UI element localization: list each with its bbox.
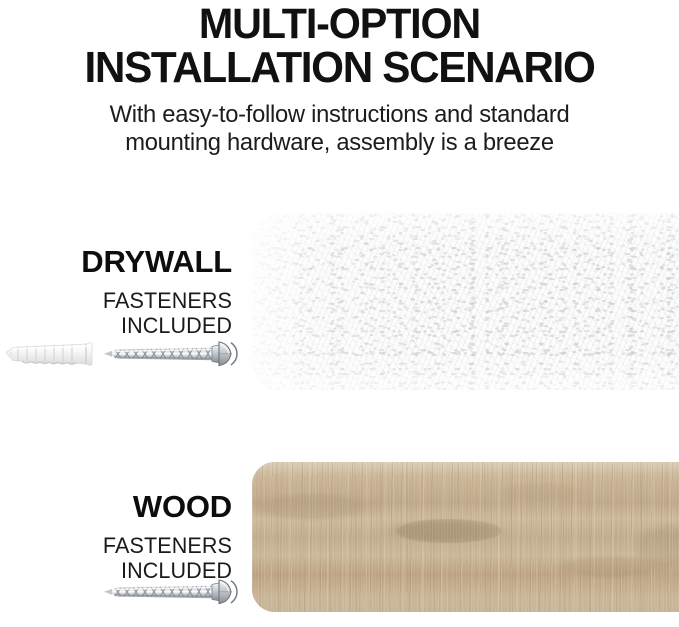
wood-material-name: WOOD — [0, 490, 232, 524]
drywall-labels: DRYWALL FASTENERS INCLUDED — [0, 245, 232, 338]
wood-grain-texture — [252, 462, 679, 612]
wood-swatch-panel — [252, 462, 679, 612]
washer-head-screw-icon — [104, 580, 237, 604]
wall-anchor-icon — [6, 343, 92, 366]
header: MULTI-OPTION INSTALLATION SCENARIO With … — [0, 0, 679, 157]
drywall-shading-overlay — [252, 213, 679, 390]
drywall-swatch-panel — [252, 213, 679, 390]
drywall-hardware-group — [0, 331, 252, 377]
drywall-material-name: DRYWALL — [0, 245, 232, 279]
subtitle-line-2: mounting hardware, assembly is a breeze — [10, 129, 669, 157]
page-title-line-1: MULTI-OPTION — [14, 0, 666, 46]
page-title-line-2: INSTALLATION SCENARIO — [14, 46, 666, 90]
drywall-fasteners-note: FASTENERS INCLUDED — [5, 279, 232, 338]
subtitle-line-1: With easy-to-follow instructions and sta… — [10, 90, 669, 129]
washer-head-screw-icon — [104, 342, 237, 366]
wood-hardware-group — [0, 569, 252, 615]
